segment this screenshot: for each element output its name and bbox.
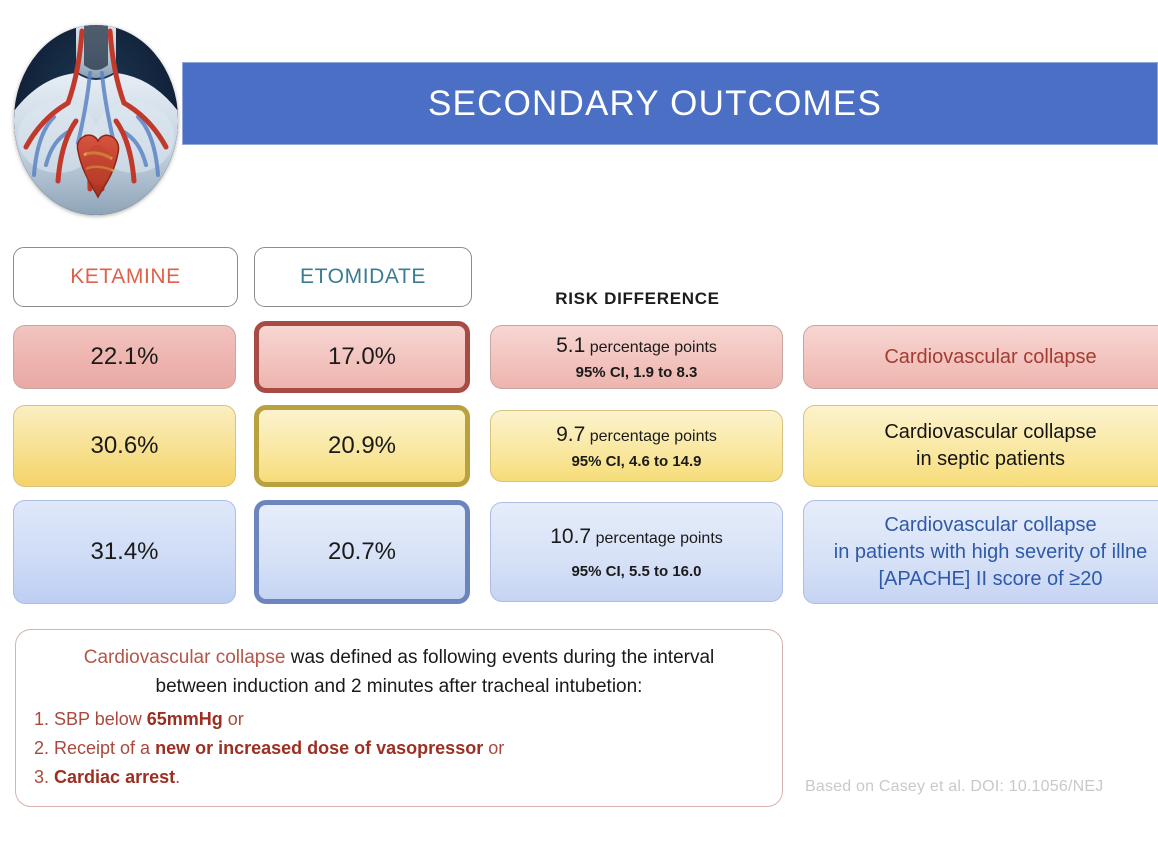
definition-item-1-num: 1. xyxy=(34,709,49,729)
etomidate-cell-row-1: 17.0% xyxy=(254,321,470,393)
outcome-line1-row-2: Cardiovascular collapse xyxy=(884,419,1096,446)
outcome-cell-row-2: Cardiovascular collapse in septic patien… xyxy=(803,405,1158,487)
table-row: 30.6% xyxy=(13,405,236,487)
ketamine-value-row-1: 22.1% xyxy=(90,343,158,371)
outcome-line3-row-3: [APACHE] II score of ≥20 xyxy=(834,566,1148,593)
rd-unit-row-2: percentage points xyxy=(590,428,717,445)
outcome-cell-row-3: Cardiovascular collapse in patients with… xyxy=(803,500,1158,604)
rd-ci-row-2: 95% CI, 4.6 to 14.9 xyxy=(571,453,701,470)
risk-difference-cell-row-1: 5.1 percentage points 95% CI, 1.9 to 8.3 xyxy=(490,325,783,389)
rd-unit-row-3: percentage points xyxy=(596,530,723,547)
column-header-etomidate: ETOMIDATE xyxy=(254,247,472,307)
definition-line-2: between induction and 2 minutes after tr… xyxy=(34,673,764,702)
outcome-line2-row-3: in patients with high severity of illne xyxy=(834,539,1148,566)
rd-value-row-2: 9.7 xyxy=(556,423,585,446)
column-header-risk-difference: RISK DIFFERENCE xyxy=(490,289,785,309)
column-header-ketamine-label: KETAMINE xyxy=(70,265,181,289)
definition-item-3: 3. Cardiac arrest. xyxy=(34,763,764,792)
column-header-ketamine: KETAMINE xyxy=(13,247,238,307)
etomidate-cell-row-2: 20.9% xyxy=(254,405,470,487)
outcome-line1-row-3: Cardiovascular collapse xyxy=(834,512,1148,539)
definition-item-1-pre: SBP below xyxy=(49,709,147,729)
definition-item-2-pre: Receipt of a xyxy=(49,738,155,758)
definition-line1-rest: was defined as following events during t… xyxy=(285,647,714,668)
risk-difference-cell-row-2: 9.7 percentage points 95% CI, 4.6 to 14.… xyxy=(490,410,783,482)
ketamine-value-row-2: 30.6% xyxy=(90,432,158,460)
ketamine-value-row-3: 31.4% xyxy=(90,538,158,566)
anatomy-illustration-icon xyxy=(14,25,178,215)
rd-unit-row-1: percentage points xyxy=(590,339,717,356)
rd-value-row-1: 5.1 xyxy=(556,334,585,357)
definition-item-1-bold: 65mmHg xyxy=(147,709,223,729)
etomidate-value-row-3: 20.7% xyxy=(328,538,396,566)
definition-item-2-bold: new or increased dose of vasopressor xyxy=(155,738,483,758)
etomidate-cell-row-3: 20.7% xyxy=(254,500,470,604)
column-header-etomidate-label: ETOMIDATE xyxy=(300,265,426,289)
definition-line-1: Cardiovascular collapse was defined as f… xyxy=(34,644,764,673)
definition-item-3-post: . xyxy=(175,767,180,787)
definition-item-2-post: or xyxy=(483,738,504,758)
outcome-line2-row-2: in septic patients xyxy=(884,446,1096,473)
rd-ci-row-3: 95% CI, 5.5 to 16.0 xyxy=(571,563,701,580)
definition-item-1-post: or xyxy=(223,709,244,729)
cardiovascular-anatomy-avatar xyxy=(14,25,178,215)
citation-text: Based on Casey et al. DOI: 10.1056/NEJ xyxy=(805,778,1103,796)
definition-item-2-num: 2. xyxy=(34,738,49,758)
etomidate-value-row-1: 17.0% xyxy=(328,343,396,371)
rd-ci-row-1: 95% CI, 1.9 to 8.3 xyxy=(576,364,698,381)
rd-value-row-3: 10.7 xyxy=(550,525,591,548)
page-title: SECONDARY OUTCOMES xyxy=(428,84,912,124)
etomidate-value-row-2: 20.9% xyxy=(328,432,396,460)
outcome-cell-row-1: Cardiovascular collapse xyxy=(803,325,1158,389)
definition-highlight: Cardiovascular collapse xyxy=(84,647,286,668)
header-banner: SECONDARY OUTCOMES xyxy=(182,62,1158,145)
risk-difference-cell-row-3: 10.7 percentage points 95% CI, 5.5 to 16… xyxy=(490,502,783,602)
definition-item-1: 1. SBP below 65mmHg or xyxy=(34,705,764,734)
definition-item-2: 2. Receipt of a new or increased dose of… xyxy=(34,734,764,763)
outcome-line1-row-1: Cardiovascular collapse xyxy=(884,344,1096,371)
definition-box: Cardiovascular collapse was defined as f… xyxy=(15,629,783,807)
definition-item-3-num: 3. xyxy=(34,767,49,787)
definition-item-3-bold: Cardiac arrest xyxy=(54,767,175,787)
table-row: 22.1% xyxy=(13,325,236,389)
table-row: 31.4% xyxy=(13,500,236,604)
